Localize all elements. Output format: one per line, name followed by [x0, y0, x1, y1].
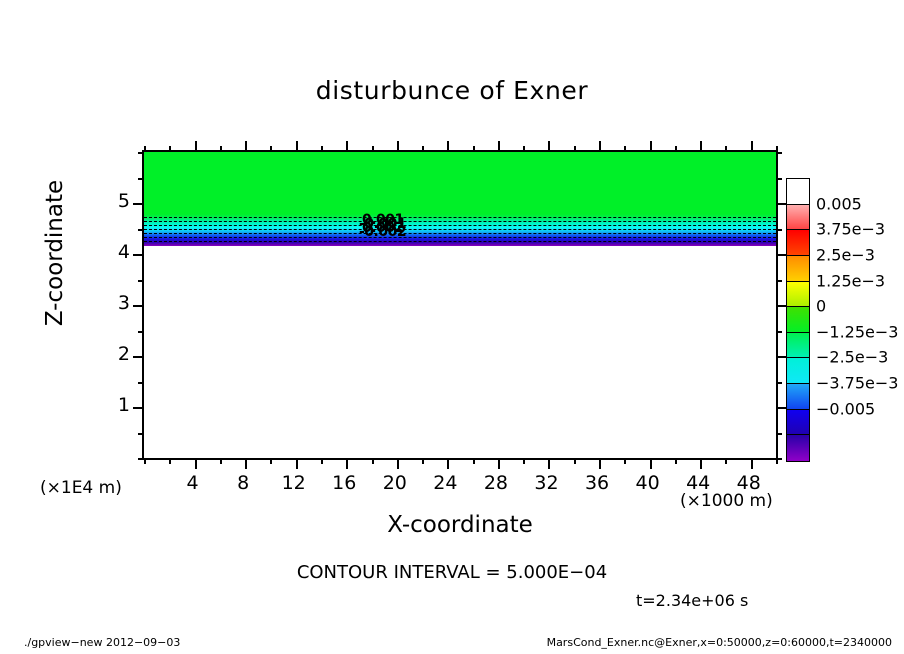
x-tick-top — [675, 146, 677, 152]
x-tick-top — [346, 141, 348, 152]
x-tick-label: 24 — [433, 472, 457, 494]
y-tick-label: 3 — [108, 292, 130, 314]
field-zero-region — [144, 152, 776, 214]
colorbar: 0.0053.75e−32.5e−31.25e−30−1.25e−3−2.5e−… — [786, 178, 810, 460]
x-tick-bottom — [624, 458, 626, 464]
x-tick-label: 36 — [585, 472, 609, 494]
contour-line — [144, 221, 776, 222]
plot-data-area: 0.001 0.002 -0.001 -0.002 — [144, 152, 776, 458]
x-tick-top — [270, 146, 272, 152]
colorbar-label: 3.75e−3 — [816, 220, 885, 239]
x-tick-top — [296, 141, 298, 152]
x-tick-top — [498, 141, 500, 152]
y-tick-right — [776, 152, 782, 154]
colorbar-band — [786, 204, 810, 231]
x-axis-title: X-coordinate — [142, 512, 778, 538]
colorbar-label: 0.005 — [816, 194, 862, 213]
x-tick-top — [144, 146, 146, 152]
colorbar-band — [786, 281, 810, 308]
x-tick-label: 32 — [534, 472, 558, 494]
y-tick-left — [138, 178, 144, 180]
x-tick-label: 28 — [484, 472, 508, 494]
y-tick-left — [138, 458, 144, 460]
y-tick-right — [776, 458, 782, 460]
plot-frame: 0.001 0.002 -0.001 -0.002 — [142, 150, 778, 460]
y-tick-right — [776, 331, 782, 333]
colorbar-label: −1.25e−3 — [816, 322, 898, 341]
y-axis-title: Z-coordinate — [42, 143, 68, 363]
contour-line — [144, 225, 776, 226]
contour-interval-note: CONTOUR INTERVAL = 5.000E−04 — [0, 562, 904, 583]
y-tick-left — [138, 280, 144, 282]
x-tick-bottom — [498, 458, 500, 469]
colorbar-band — [786, 357, 810, 384]
x-tick-bottom — [169, 458, 171, 464]
x-tick-label: 8 — [237, 472, 249, 494]
x-tick-bottom — [195, 458, 197, 469]
x-tick-top — [321, 146, 323, 152]
x-tick-label: 40 — [636, 472, 660, 494]
x-tick-bottom — [548, 458, 550, 469]
contour-line — [144, 217, 776, 218]
colorbar-band — [786, 178, 810, 205]
x-tick-bottom — [372, 458, 374, 464]
contour-line — [144, 241, 776, 242]
x-tick-bottom — [346, 458, 348, 469]
y-tick-right — [776, 382, 782, 384]
y-tick-left — [133, 356, 144, 358]
colorbar-label: 0 — [816, 297, 826, 316]
contour-line — [144, 233, 776, 234]
colorbar-label: −2.5e−3 — [816, 348, 888, 367]
y-tick-left — [138, 433, 144, 435]
x-tick-bottom — [220, 458, 222, 464]
colorbar-band — [786, 255, 810, 282]
x-tick-label: 20 — [383, 472, 407, 494]
x-tick-bottom — [422, 458, 424, 464]
x-tick-top — [650, 141, 652, 152]
x-tick-bottom — [725, 458, 727, 464]
x-tick-bottom — [473, 458, 475, 464]
x-tick-bottom — [700, 458, 702, 469]
x-tick-top — [700, 141, 702, 152]
x-tick-top — [245, 141, 247, 152]
x-tick-top — [725, 146, 727, 152]
x-tick-top — [624, 146, 626, 152]
x-tick-label: 48 — [737, 472, 761, 494]
colorbar-band — [786, 332, 810, 359]
colorbar-band — [786, 229, 810, 256]
x-tick-top — [548, 141, 550, 152]
x-tick-bottom — [574, 458, 576, 464]
y-tick-left — [138, 331, 144, 333]
y-tick-left — [138, 229, 144, 231]
y-tick-left — [133, 203, 144, 205]
x-tick-bottom — [144, 458, 146, 464]
footer-source: MarsCond_Exner.nc@Exner,x=0:50000,z=0:60… — [547, 636, 892, 649]
x-tick-top — [220, 146, 222, 152]
y-tick-left — [133, 254, 144, 256]
time-annotation: t=2.34e+06 s — [636, 591, 748, 610]
x-tick-top — [523, 146, 525, 152]
x-tick-top — [447, 141, 449, 152]
y-tick-right — [776, 229, 782, 231]
x-tick-bottom — [650, 458, 652, 469]
x-tick-bottom — [245, 458, 247, 469]
colorbar-band — [786, 434, 810, 461]
x-tick-top — [397, 141, 399, 152]
y-tick-left — [138, 152, 144, 154]
contour-label: -0.002 — [359, 224, 406, 240]
page-title: disturbunce of Exner — [0, 76, 904, 105]
y-tick-label: 1 — [108, 394, 130, 416]
colorbar-label: −3.75e−3 — [816, 374, 898, 393]
x-tick-top — [574, 146, 576, 152]
x-tick-bottom — [321, 458, 323, 464]
x-tick-bottom — [675, 458, 677, 464]
y-tick-label: 5 — [108, 190, 130, 212]
x-tick-top — [372, 146, 374, 152]
x-tick-top — [195, 141, 197, 152]
y-tick-right — [776, 433, 782, 435]
contour-line — [144, 229, 776, 230]
footer-command: ./gpview−new 2012−09−03 — [24, 636, 180, 649]
colorbar-band — [786, 383, 810, 410]
y-tick-left — [133, 305, 144, 307]
colorbar-label: −0.005 — [816, 399, 875, 418]
y-tick-label: 2 — [108, 343, 130, 365]
field-disturbance-band — [144, 214, 776, 246]
y-tick-label: 4 — [108, 241, 130, 263]
x-tick-label: 12 — [282, 472, 306, 494]
x-tick-bottom — [270, 458, 272, 464]
x-tick-label: 16 — [332, 472, 356, 494]
x-tick-bottom — [751, 458, 753, 469]
x-tick-bottom — [523, 458, 525, 464]
colorbar-band — [786, 306, 810, 333]
x-tick-top — [422, 146, 424, 152]
x-tick-bottom — [599, 458, 601, 469]
x-axis-units: (×1000 m) — [680, 491, 773, 511]
x-tick-bottom — [397, 458, 399, 469]
colorbar-band — [786, 409, 810, 436]
y-tick-left — [138, 382, 144, 384]
y-tick-left — [133, 407, 144, 409]
x-tick-bottom — [296, 458, 298, 469]
x-tick-label: 44 — [686, 472, 710, 494]
x-tick-bottom — [447, 458, 449, 469]
y-tick-right — [776, 280, 782, 282]
y-axis-units: (×1E4 m) — [40, 478, 122, 498]
x-tick-top — [473, 146, 475, 152]
x-tick-top — [599, 141, 601, 152]
x-tick-top — [169, 146, 171, 152]
contour-line — [144, 237, 776, 238]
y-tick-right — [776, 178, 782, 180]
colorbar-label: 1.25e−3 — [816, 271, 885, 290]
x-tick-label: 4 — [187, 472, 199, 494]
x-tick-top — [751, 141, 753, 152]
colorbar-label: 2.5e−3 — [816, 245, 875, 264]
